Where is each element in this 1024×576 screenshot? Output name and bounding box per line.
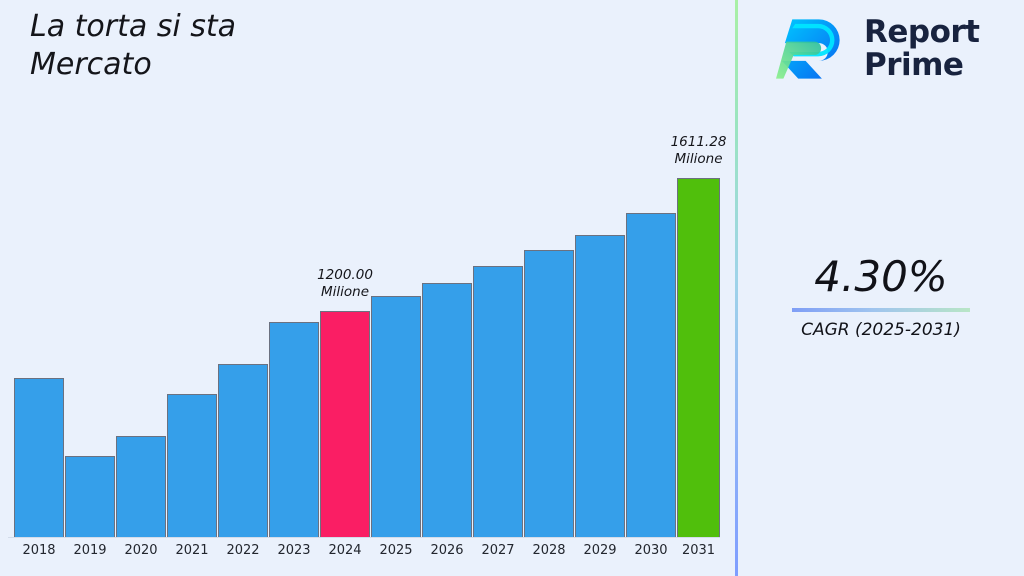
- bar-slot-2031: 1611.28 Milione2031: [677, 0, 720, 576]
- bar-slot-2029: 2029: [575, 0, 625, 576]
- bar-slot-2024: 1200.00 Milione2024: [320, 0, 370, 576]
- bar-2026[interactable]: [422, 283, 472, 537]
- bar-slot-2020: 2020: [116, 0, 166, 576]
- bar-slot-2018: 2018: [14, 0, 64, 576]
- cagr-block: 4.30% CAGR (2025-2031): [738, 255, 1024, 340]
- bar-2029[interactable]: [575, 235, 625, 537]
- bar-2031[interactable]: [677, 178, 720, 537]
- bar-slot-2027: 2027: [473, 0, 523, 576]
- bar-2020[interactable]: [116, 436, 166, 537]
- brand-panel: Report Prime 4.30% CAGR (2025-2031): [738, 0, 1024, 576]
- bar-slot-2030: 2030: [626, 0, 676, 576]
- bar-2025[interactable]: [371, 296, 421, 537]
- bar-2021[interactable]: [167, 394, 217, 537]
- infographic-root: La torta si sta Mercato 2018201920202021…: [0, 0, 1024, 576]
- bar-2022[interactable]: [218, 364, 268, 537]
- report-prime-logo-mark: [776, 12, 850, 86]
- bar-slot-2025: 2025: [371, 0, 421, 576]
- bar-2018[interactable]: [14, 378, 64, 537]
- bar-2030[interactable]: [626, 213, 676, 537]
- cagr-caption: CAGR (2025-2031): [738, 320, 1024, 340]
- cagr-value: 4.30%: [738, 255, 1024, 299]
- bar-slot-2028: 2028: [524, 0, 574, 576]
- cagr-divider-rule: [792, 308, 970, 312]
- logo-wordmark: Report Prime: [864, 16, 980, 83]
- bar-2028[interactable]: [524, 250, 574, 537]
- bar-slot-2023: 2023: [269, 0, 319, 576]
- bar-slot-2021: 2021: [167, 0, 217, 576]
- report-prime-logo: Report Prime: [776, 12, 980, 86]
- bar-slot-2019: 2019: [65, 0, 115, 576]
- x-axis-tick-2031: 2031: [664, 543, 734, 558]
- bar-2024[interactable]: [320, 311, 370, 537]
- bar-slot-2026: 2026: [422, 0, 472, 576]
- bar-2023[interactable]: [269, 322, 319, 537]
- bar-2027[interactable]: [473, 266, 523, 537]
- chart-panel: La torta si sta Mercato 2018201920202021…: [0, 0, 736, 576]
- bar-slot-2022: 2022: [218, 0, 268, 576]
- bar-2019[interactable]: [65, 456, 115, 537]
- bar-chart-plot-area: 2018201920202021202220231200.00 Milione2…: [0, 0, 736, 576]
